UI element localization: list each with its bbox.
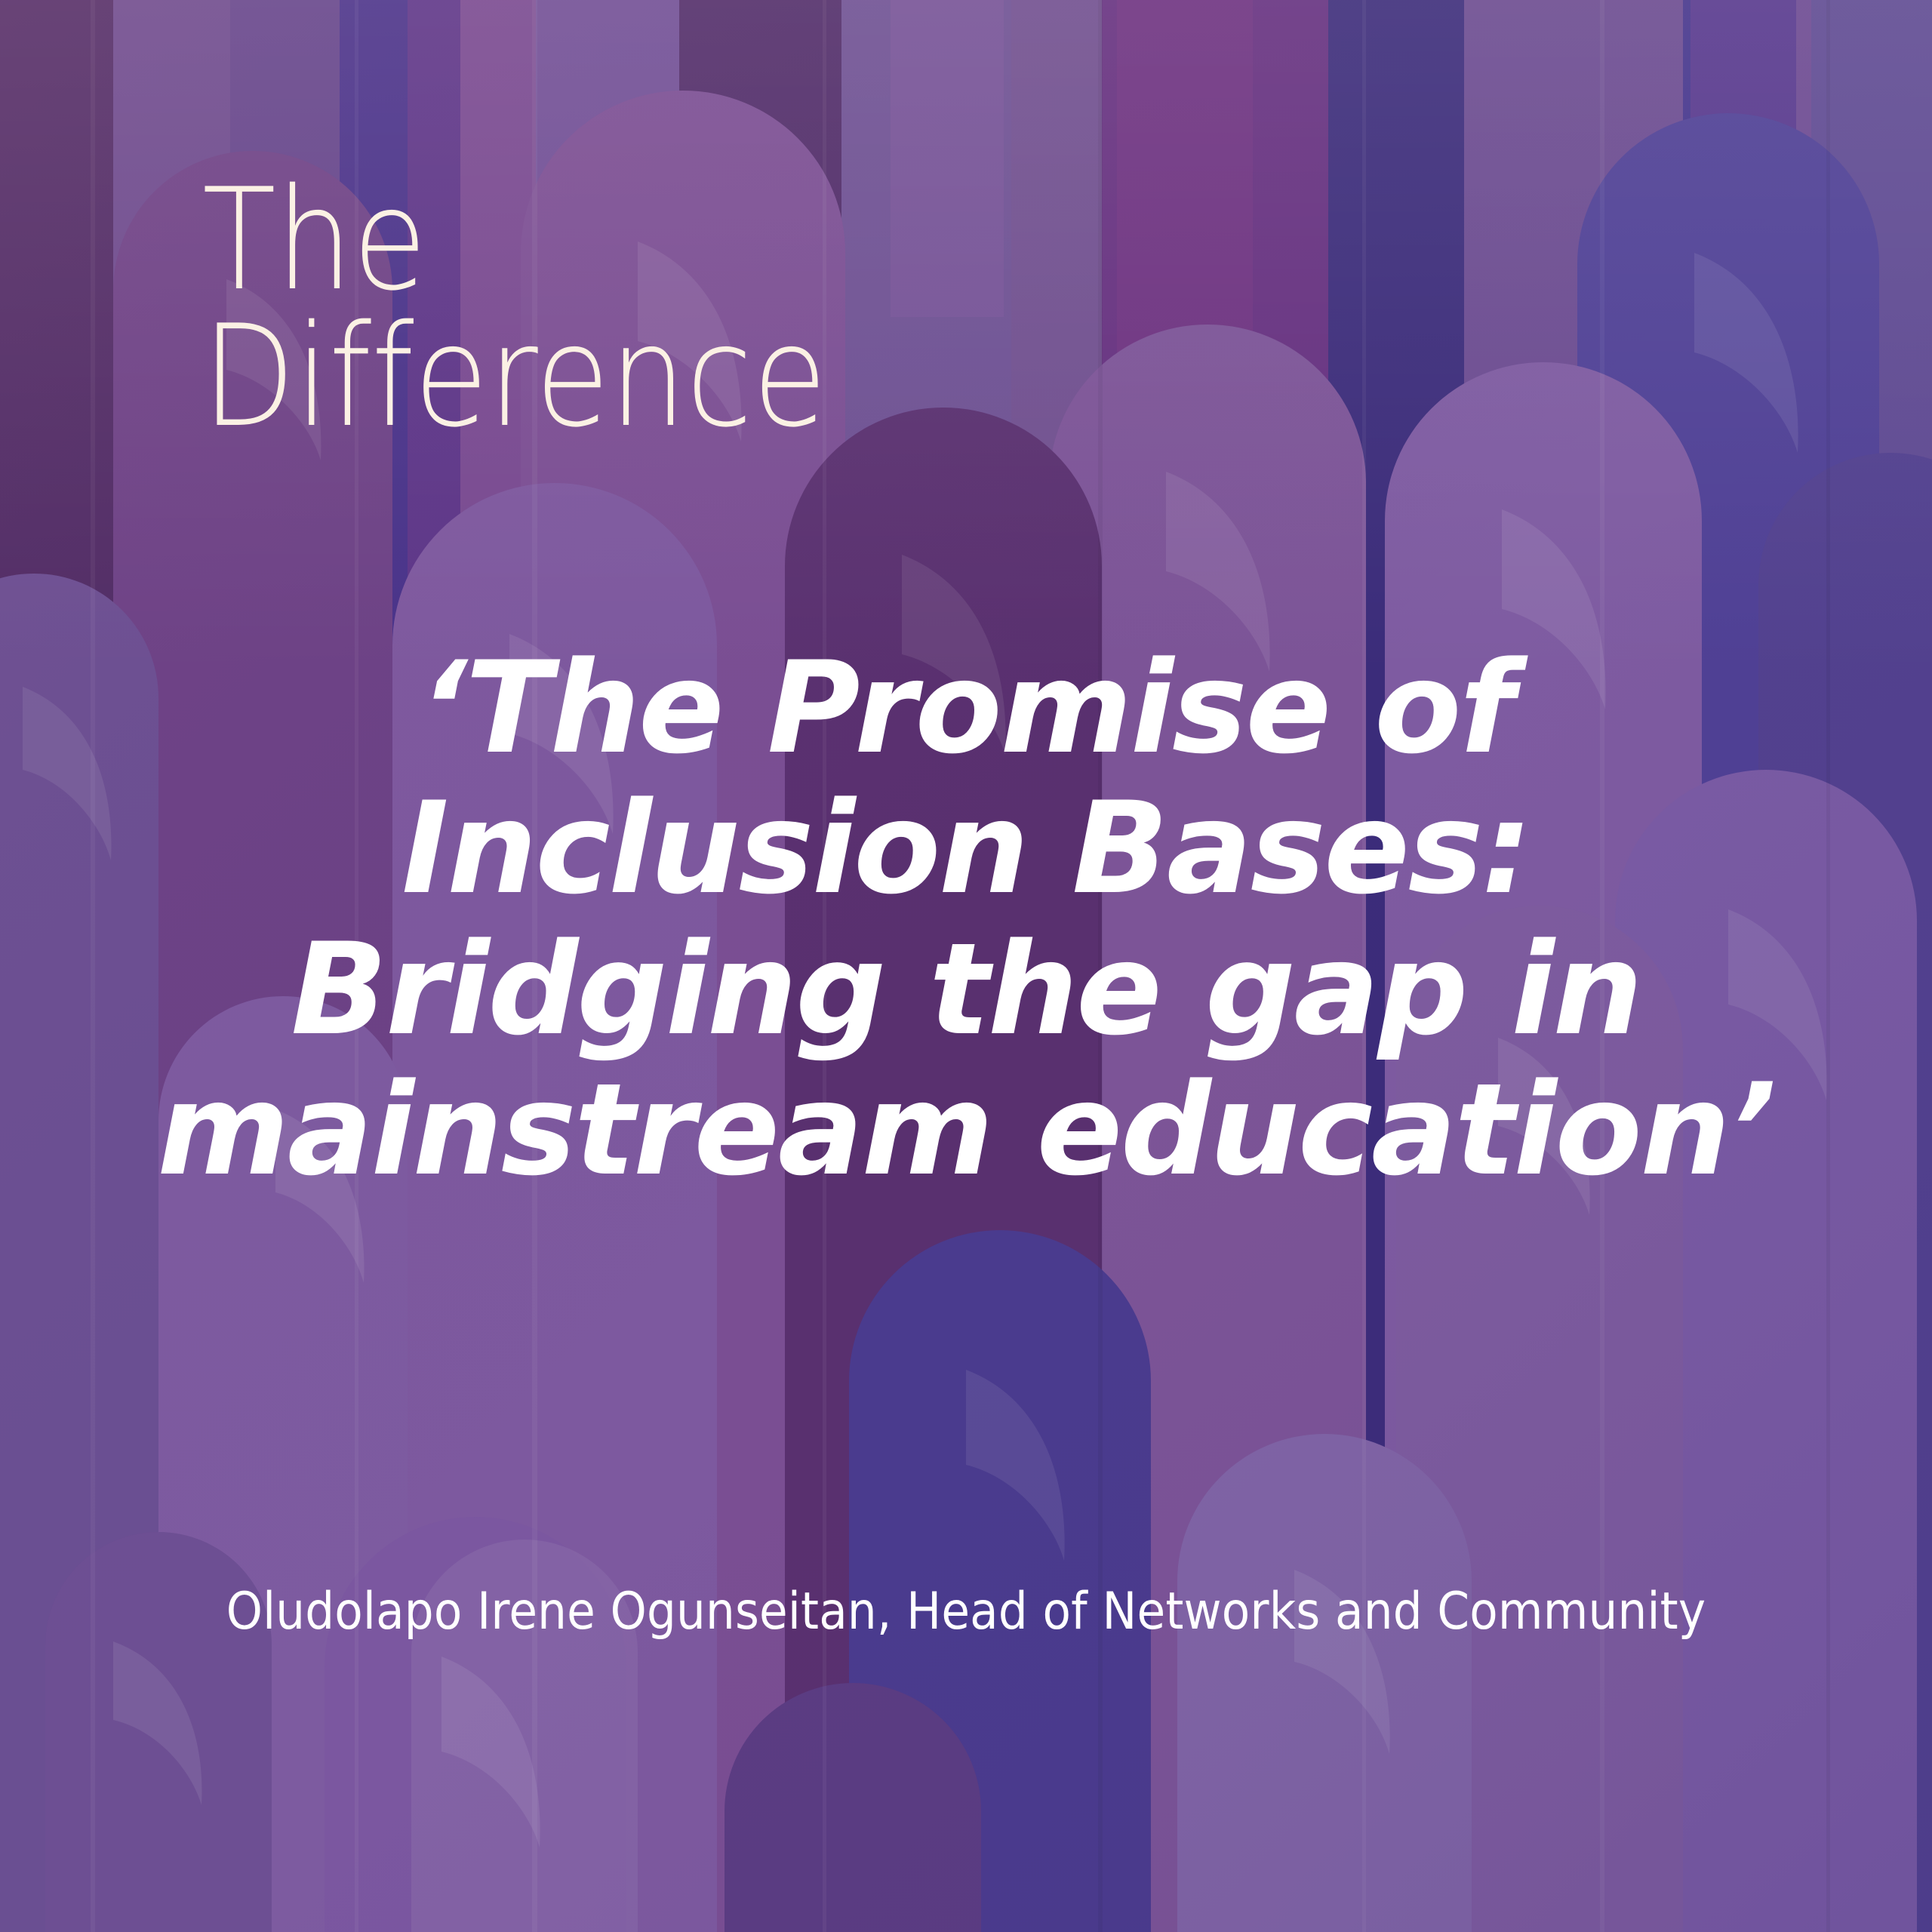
brand-logo: The Difference [202, 175, 1032, 441]
headline-title: ‘The Promise of Inclusion Bases: Bridgin… [98, 638, 1834, 1201]
author-byline: Oludolapo Irene Ogunseitan, Head of Netw… [178, 1581, 1754, 1643]
social-card: The Difference ‘The Promise of Inclusion… [0, 0, 1932, 1932]
logo-line-the: The [202, 175, 916, 304]
logo-line-difference: Difference [202, 312, 916, 441]
